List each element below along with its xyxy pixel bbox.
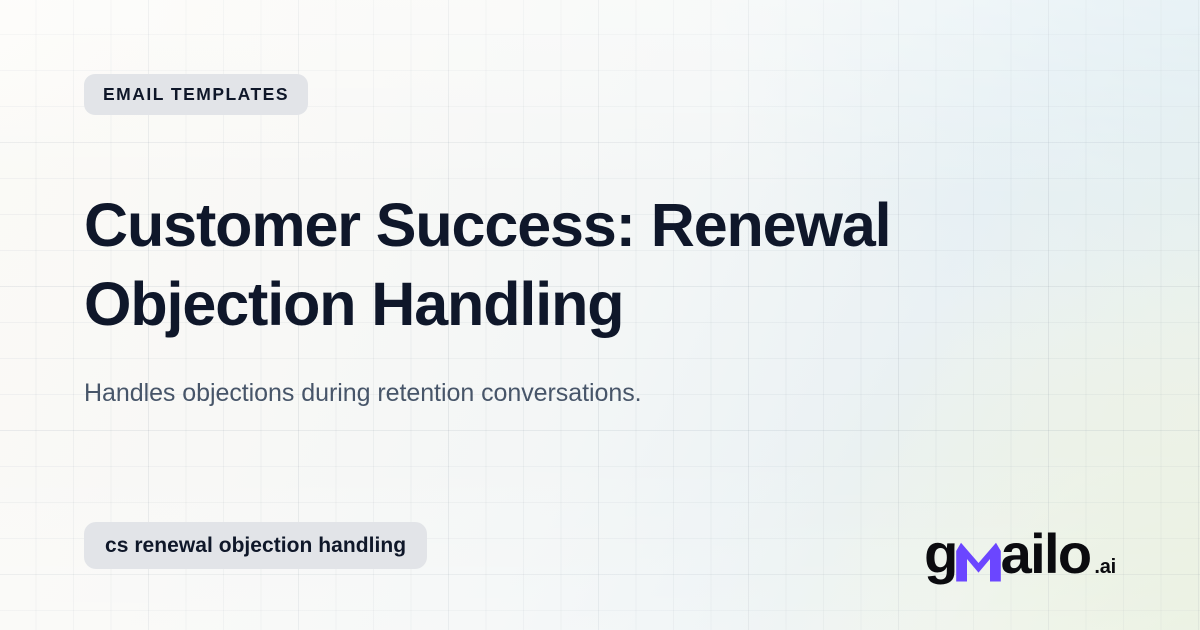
- page-title: Customer Success: Renewal Objection Hand…: [84, 186, 1044, 345]
- logo-tld: .ai: [1094, 557, 1116, 577]
- logo-letter-g: g: [924, 526, 957, 582]
- social-card: EMAIL TEMPLATES Customer Success: Renewa…: [0, 0, 1200, 630]
- brand-logo: g ailo .ai: [924, 526, 1116, 582]
- card-content: EMAIL TEMPLATES Customer Success: Renewa…: [0, 0, 1200, 630]
- page-subtitle: Handles objections during retention conv…: [84, 375, 944, 411]
- template-slug-badge: cs renewal objection handling: [84, 522, 427, 569]
- category-badge: EMAIL TEMPLATES: [84, 74, 308, 115]
- logo-letters-ailo: ailo: [1001, 526, 1091, 582]
- logo-envelope-m-icon: [955, 542, 1002, 582]
- logo-wordmark: g ailo: [924, 526, 1090, 582]
